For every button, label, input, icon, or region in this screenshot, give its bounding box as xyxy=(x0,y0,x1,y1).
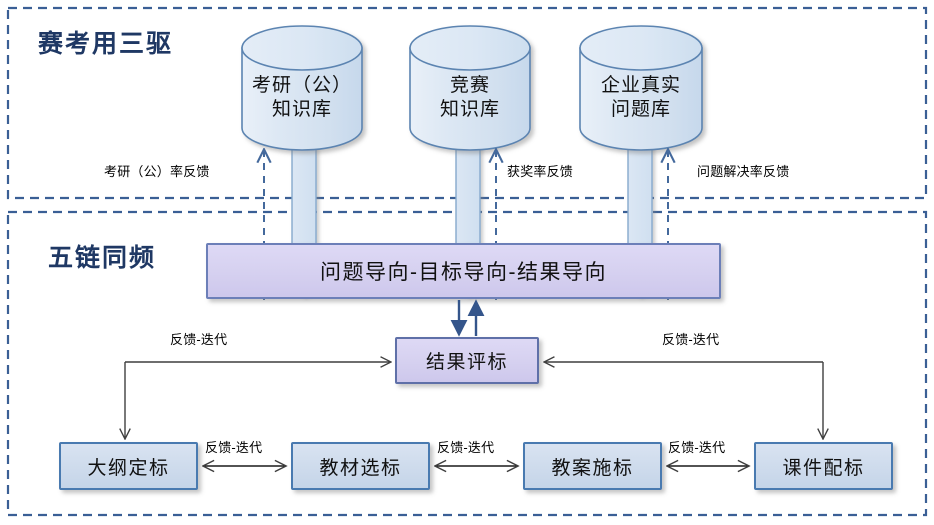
node-material-shape[interactable] xyxy=(292,443,429,489)
node-eval-shape[interactable] xyxy=(396,338,538,383)
database-jingsai[interactable] xyxy=(410,26,530,150)
band-orientation-shape[interactable] xyxy=(207,244,720,298)
zone-title-bottom: 五链同频 xyxy=(48,238,156,274)
database-kaoyan[interactable] xyxy=(242,26,362,150)
node-courseware-shape[interactable] xyxy=(755,443,892,489)
diagram-canvas: 赛考用三驱 五链同频 考研（公） 知识库 竞赛 知识库 企业真实 问题库 考研（… xyxy=(0,0,934,525)
database-qiye[interactable] xyxy=(580,26,702,150)
zone-title-top: 赛考用三驱 xyxy=(38,24,173,60)
node-outline-shape[interactable] xyxy=(60,443,197,489)
node-lesson-shape[interactable] xyxy=(524,443,661,489)
